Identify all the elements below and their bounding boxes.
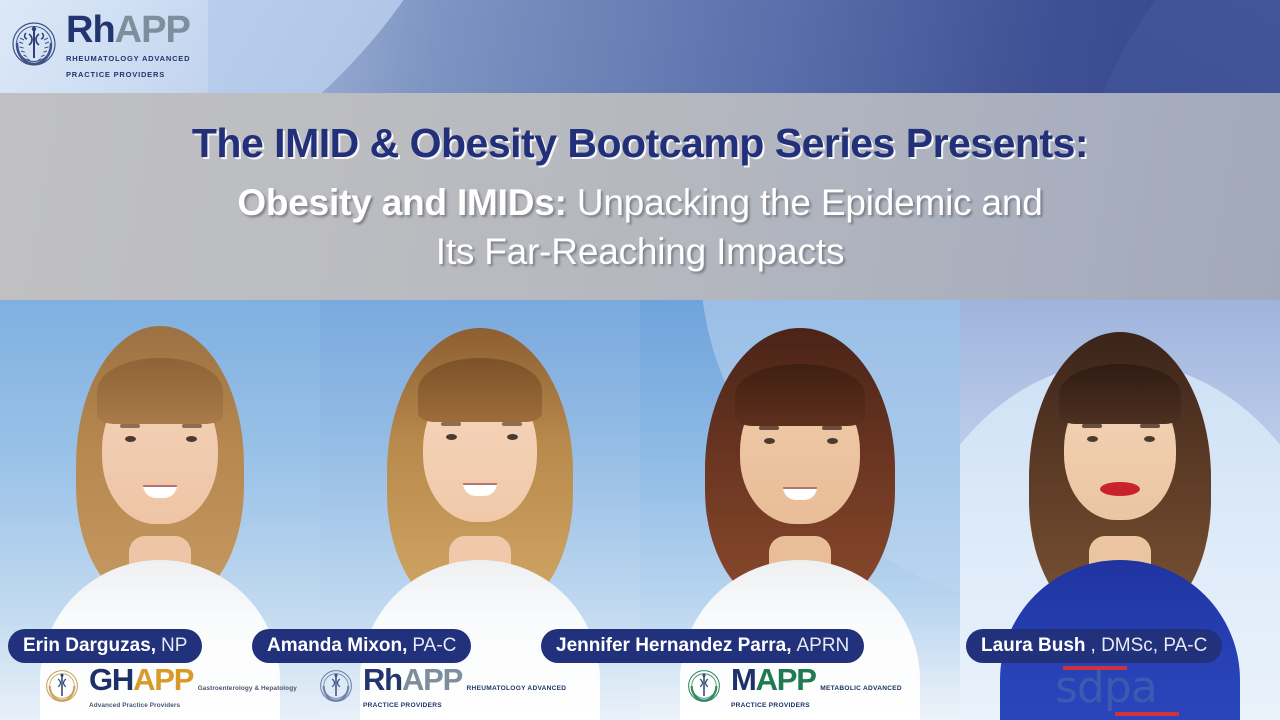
rhapp-footer-sub2: PRACTICE PROVIDERS — [363, 702, 442, 709]
name-badge-3: Jennifer Hernandez Parra, APRN — [541, 629, 864, 663]
speaker-credentials-4: , DMSc, PA-C — [1091, 635, 1208, 657]
rhapp-footer-part2: APP — [402, 662, 462, 697]
mapp-seal-icon — [684, 666, 724, 711]
speaker-name-2: Amanda Mixon, — [267, 635, 407, 657]
name-badge-2: Amanda Mixon, PA-C — [252, 629, 471, 663]
title-line-1: The IMID & Obesity Bootcamp Series Prese… — [192, 120, 1088, 167]
title-line-3: Its Far-Reaching Impacts — [436, 228, 845, 277]
sdpa-bar-top — [1063, 666, 1127, 670]
header-logo-subtitle-line2: PRACTICE PROVIDERS — [66, 70, 165, 79]
title-line-2-rest: Unpacking the Epidemic and — [567, 182, 1043, 223]
rhapp-footer-logo: RhAPP RHEUMATOLOGY ADVANCEDPRACTICE PROV… — [316, 666, 566, 711]
sdpa-logo: sdpa — [1055, 666, 1195, 718]
header-swoosh-dark — [1070, 0, 1280, 93]
mapp-sub1: METABOLIC ADVANCED — [820, 685, 902, 692]
speaker-credentials-3: APRN — [796, 635, 849, 657]
ghapp-seal-icon — [42, 666, 82, 711]
header-rhapp-logo: RhAPP RHEUMATOLOGY ADVANCED PRACTICE PRO… — [0, 0, 208, 93]
speaker-name-1: Erin Darguzas, — [23, 635, 156, 657]
title-line-2-bold: Obesity and IMIDs: — [237, 182, 566, 223]
header-logo-rh: Rh — [66, 9, 115, 51]
rhapp-footer-part1: Rh — [363, 662, 402, 697]
name-badge-4: Laura Bush , DMSc, PA-C — [966, 629, 1222, 663]
sdpa-bar-bottom — [1115, 712, 1179, 716]
ghapp-sub2: Advanced Practice Providers — [89, 702, 180, 709]
speaker-credentials-2: PA-C — [412, 635, 456, 657]
speaker-name-badges: Erin Darguzas, NP Amanda Mixon, PA-C Jen… — [0, 628, 1280, 664]
caduceus-seal-icon — [8, 18, 60, 75]
header-banner: RhAPP RHEUMATOLOGY ADVANCED PRACTICE PRO… — [0, 0, 1280, 93]
speaker-name-3: Jennifer Hernandez Parra, — [556, 635, 791, 657]
header-logo-wordmark: RhAPP RHEUMATOLOGY ADVANCED PRACTICE PRO… — [66, 12, 208, 80]
mapp-logo: MAPP METABOLIC ADVANCEDPRACTICE PROVIDER… — [684, 666, 902, 711]
rhapp-footer-sub1: RHEUMATOLOGY ADVANCED — [467, 685, 567, 692]
ghapp-logo: GHAPP Gastroenterology & HepatologyAdvan… — [42, 666, 297, 711]
mapp-part1: M — [731, 662, 756, 697]
ghapp-part2: APP — [133, 662, 193, 697]
mapp-wordmark: MAPP METABOLIC ADVANCEDPRACTICE PROVIDER… — [731, 666, 902, 711]
ghapp-wordmark: GHAPP Gastroenterology & HepatologyAdvan… — [89, 666, 297, 711]
mapp-part2: APP — [756, 662, 816, 697]
title-line-2: Obesity and IMIDs: Unpacking the Epidemi… — [237, 179, 1042, 228]
header-logo-app: APP — [115, 9, 189, 51]
rhapp-footer-wordmark: RhAPP RHEUMATOLOGY ADVANCEDPRACTICE PROV… — [363, 666, 566, 711]
title-band: The IMID & Obesity Bootcamp Series Prese… — [0, 93, 1280, 300]
ghapp-sub1: Gastroenterology & Hepatology — [198, 685, 297, 692]
speaker-name-4: Laura Bush — [981, 635, 1086, 657]
header-logo-subtitle-line1: RHEUMATOLOGY ADVANCED — [66, 54, 190, 63]
ghapp-part1: GH — [89, 662, 133, 697]
webinar-title-slide: RhAPP RHEUMATOLOGY ADVANCED PRACTICE PRO… — [0, 0, 1280, 720]
speaker-credentials-1: NP — [161, 635, 187, 657]
name-badge-1: Erin Darguzas, NP — [8, 629, 202, 663]
mapp-sub2: PRACTICE PROVIDERS — [731, 702, 810, 709]
rhapp-seal-icon — [316, 666, 356, 711]
